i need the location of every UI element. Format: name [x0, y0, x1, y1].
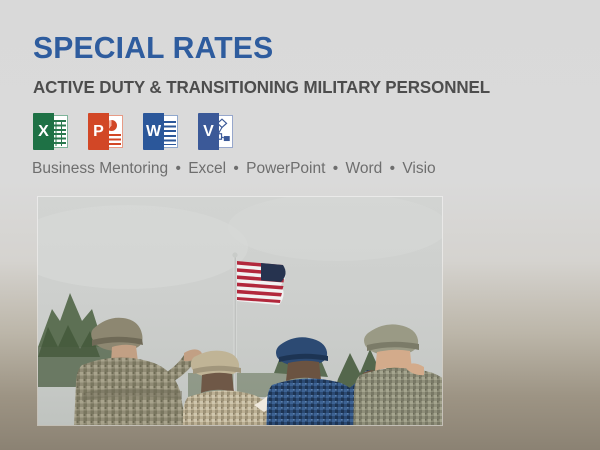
- product-item-business-mentoring: Business Mentoring: [32, 160, 168, 177]
- photo-american-flag: [237, 261, 286, 305]
- word-icon: W: [143, 113, 178, 150]
- excel-icon: X: [33, 113, 68, 150]
- powerpoint-letter: P: [88, 113, 109, 150]
- bullet-separator: •: [230, 160, 241, 177]
- product-item-powerpoint: PowerPoint: [246, 160, 325, 177]
- product-list: Business Mentoring • Excel • PowerPoint …: [32, 160, 436, 178]
- word-letter: W: [143, 113, 164, 150]
- powerpoint-icon: P: [88, 113, 123, 150]
- page-subtitle: ACTIVE DUTY & TRANSITIONING MILITARY PER…: [33, 77, 490, 98]
- visio-icon: V: [198, 113, 233, 150]
- military-salute-photo: [38, 197, 442, 425]
- product-item-visio: Visio: [402, 160, 435, 177]
- excel-letter: X: [33, 113, 54, 150]
- bullet-separator: •: [172, 160, 183, 177]
- slide-canvas: SPECIAL RATES ACTIVE DUTY & TRANSITIONIN…: [0, 0, 600, 450]
- product-item-excel: Excel: [188, 160, 226, 177]
- page-title: SPECIAL RATES: [33, 30, 273, 66]
- visio-letter: V: [198, 113, 219, 150]
- bullet-separator: •: [330, 160, 341, 177]
- product-item-word: Word: [345, 160, 382, 177]
- office-icon-row: X P W: [33, 113, 233, 150]
- photo-artwork: [38, 197, 442, 425]
- bullet-separator: •: [387, 160, 398, 177]
